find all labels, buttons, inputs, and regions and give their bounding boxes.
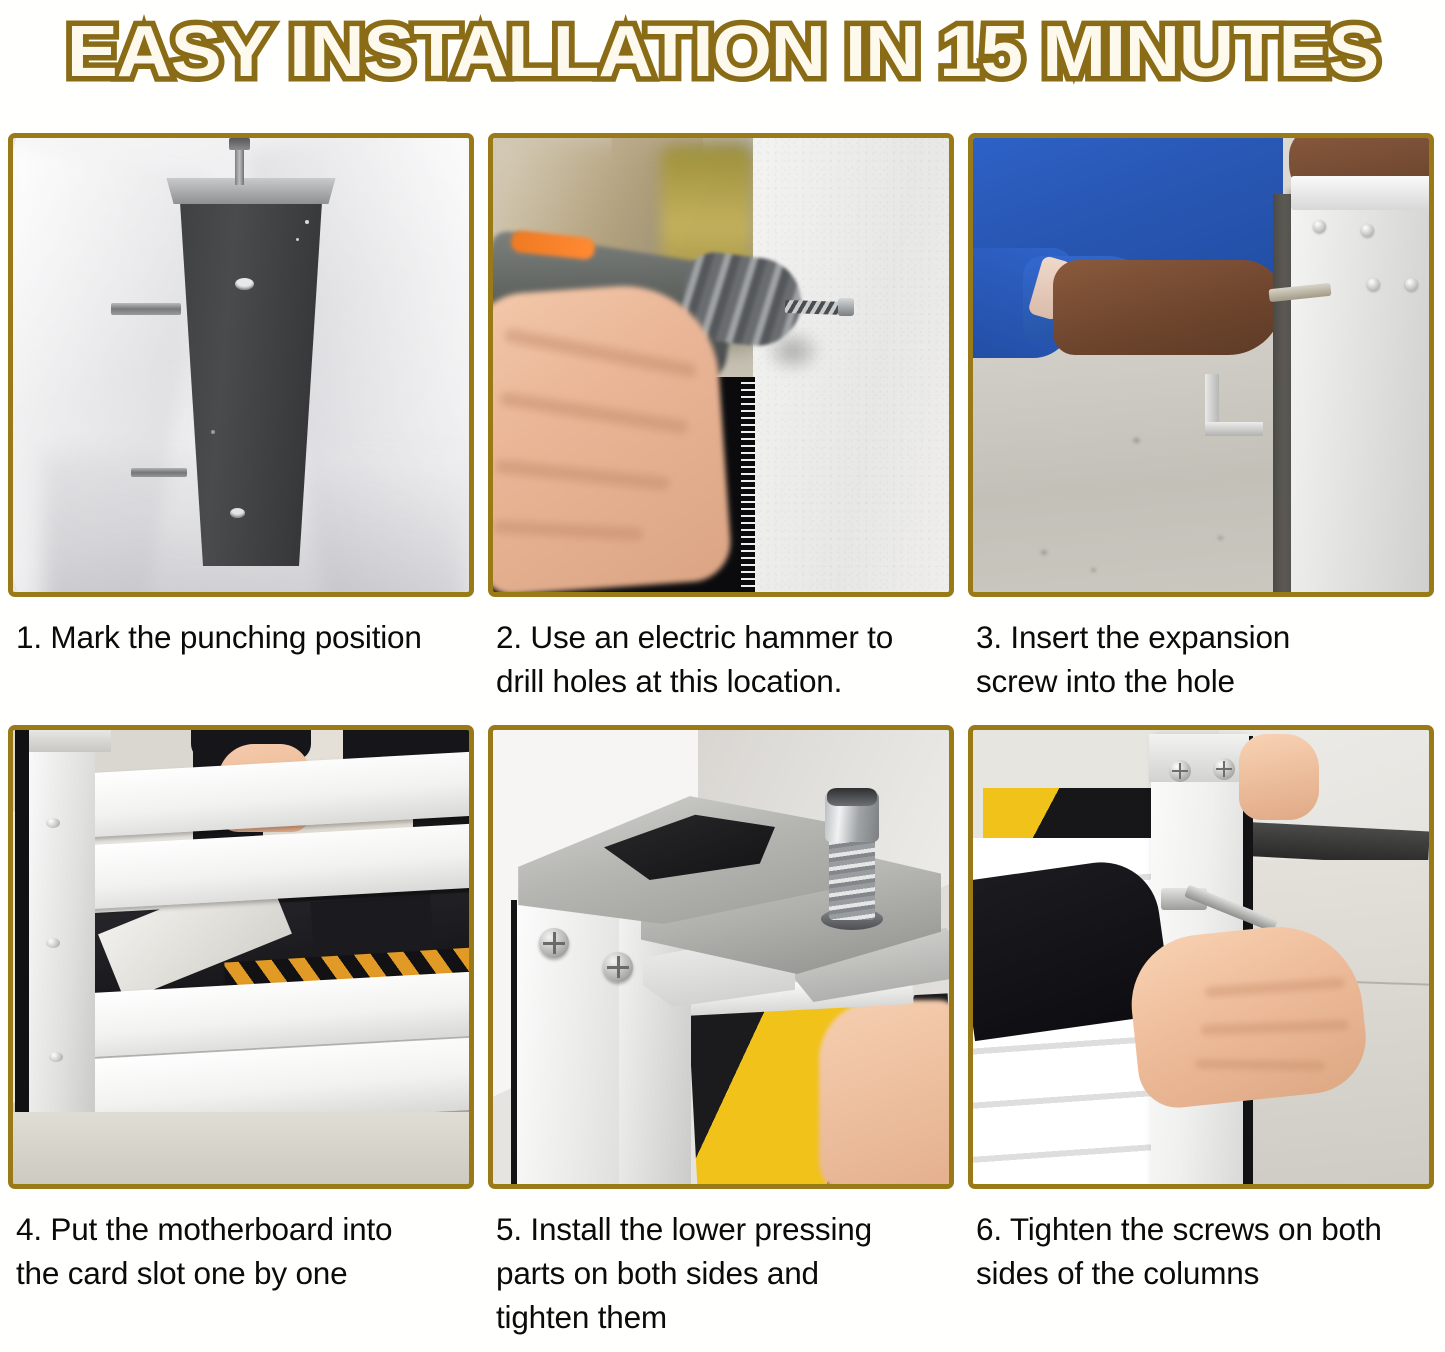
stud-nut-icon <box>229 138 250 150</box>
floor-speck-icon <box>1041 550 1047 555</box>
screw-icon <box>49 1052 63 1062</box>
step-card-3: 3. Insert the expansion screw into the h… <box>968 133 1438 703</box>
screw-icon <box>46 938 60 948</box>
step-caption-5: 5. Install the lower pressing parts on b… <box>496 1207 958 1339</box>
step-card-1: 1. Mark the punching position <box>8 133 478 703</box>
step-caption-3: 3. Insert the expansion screw into the h… <box>976 615 1438 703</box>
screw-icon <box>1313 220 1326 233</box>
screw-icon <box>603 952 633 982</box>
installation-steps-grid: 1. Mark the punching position <box>8 133 1438 1339</box>
step-card-6: 6. Tighten the screws on both sides of t… <box>968 725 1438 1339</box>
floor-speck-icon <box>1091 568 1096 572</box>
step-photo-frame-3 <box>968 133 1434 597</box>
drill-dust-icon <box>763 328 823 374</box>
step-photo-frame-5 <box>488 725 954 1189</box>
step-photo-5 <box>493 730 949 1184</box>
mounting-hole-icon <box>230 508 245 518</box>
column-cap-icon <box>161 178 341 204</box>
step-photo-frame-2 <box>488 133 954 597</box>
floor-speck-icon <box>1218 536 1223 540</box>
step-caption-6: 6. Tighten the screws on both sides of t… <box>976 1207 1438 1295</box>
hand-icon <box>493 280 733 592</box>
page-title: EASY INSTALLATION IN 15 MINUTES <box>67 13 1378 91</box>
screw-icon <box>46 818 60 828</box>
row-spacer <box>968 703 1438 725</box>
step-photo-frame-6 <box>968 725 1434 1189</box>
step-card-5: 5. Install the lower pressing parts on b… <box>488 725 958 1339</box>
mounting-hole-icon <box>235 278 254 290</box>
step-caption-2: 2. Use an electric hammer to drill holes… <box>496 615 958 703</box>
column-cap-icon <box>1291 176 1429 210</box>
title-banner: EASY INSTALLATION IN 15 MINUTES <box>0 0 1445 104</box>
hand-icon <box>819 1000 949 1184</box>
speck-icon <box>211 430 215 434</box>
floor-icon <box>13 1112 469 1184</box>
column-cap-icon <box>1149 734 1249 782</box>
step-photo-frame-4 <box>8 725 474 1189</box>
hand-icon <box>1239 734 1319 820</box>
screw-icon <box>539 928 569 958</box>
step-photo-4 <box>13 730 469 1184</box>
floor-speck-icon <box>1133 438 1140 443</box>
step-card-4: 4. Put the motherboard into the card slo… <box>8 725 478 1339</box>
step-photo-2 <box>493 138 949 592</box>
arm-icon <box>1053 260 1283 355</box>
step-photo-6 <box>973 730 1429 1184</box>
white-column-icon <box>1291 190 1429 592</box>
step-caption-1: 1. Mark the punching position <box>16 615 478 659</box>
bolt-thread-icon <box>829 836 875 920</box>
expansion-bolt-icon <box>131 468 187 477</box>
drill-bit-tip-icon <box>838 298 854 316</box>
step-photo-1 <box>13 138 469 592</box>
step-caption-4: 4. Put the motherboard into the card slo… <box>16 1207 478 1295</box>
expansion-bolt-icon <box>111 303 181 315</box>
step-photo-3 <box>973 138 1429 592</box>
step-photo-frame-1 <box>8 133 474 597</box>
column-cap-icon <box>29 730 111 752</box>
row-spacer <box>488 703 958 725</box>
white-column-icon <box>29 730 95 1138</box>
allen-key-icon <box>1205 374 1219 436</box>
screw-icon <box>1367 278 1380 291</box>
row-spacer <box>8 703 478 725</box>
speck-icon <box>296 238 299 241</box>
speck-icon <box>305 220 309 224</box>
screw-icon <box>1361 224 1374 237</box>
hex-bolt-head-icon <box>827 788 877 806</box>
screw-icon <box>1169 760 1191 782</box>
step-card-2: 2. Use an electric hammer to drill holes… <box>488 133 958 703</box>
screw-icon <box>1405 278 1418 291</box>
screw-icon <box>1213 758 1235 780</box>
